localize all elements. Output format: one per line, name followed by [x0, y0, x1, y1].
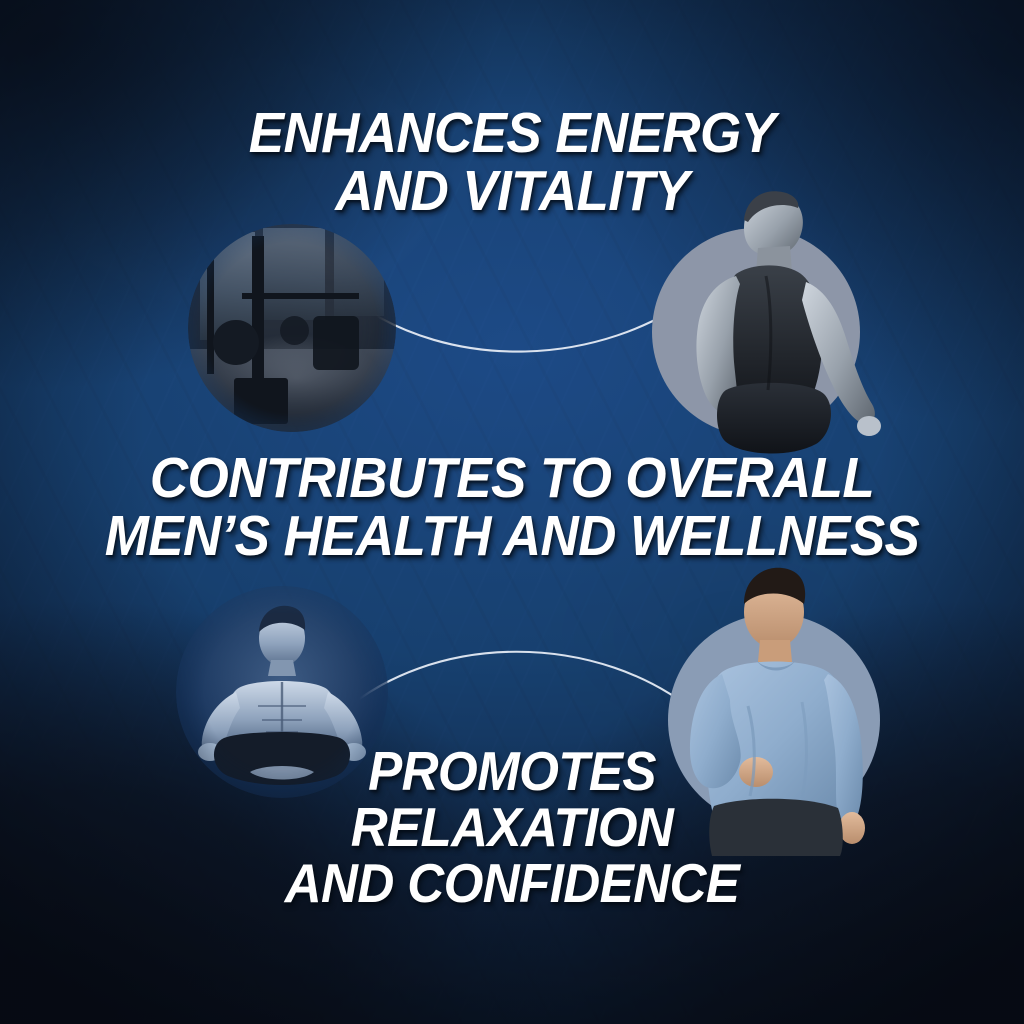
- headline-promotes-relaxation-confidence: PROMOTES RELAXATION AND CONFIDENCE: [36, 743, 988, 911]
- infographic-canvas: ENHANCES ENERGY AND VITALITY: [0, 0, 1024, 1024]
- gym-photo-disc: [188, 224, 396, 432]
- headline-mens-health-wellness: CONTRIBUTES TO OVERALL MEN’S HEALTH AND …: [36, 449, 988, 565]
- vitality-man-figure: [640, 176, 890, 456]
